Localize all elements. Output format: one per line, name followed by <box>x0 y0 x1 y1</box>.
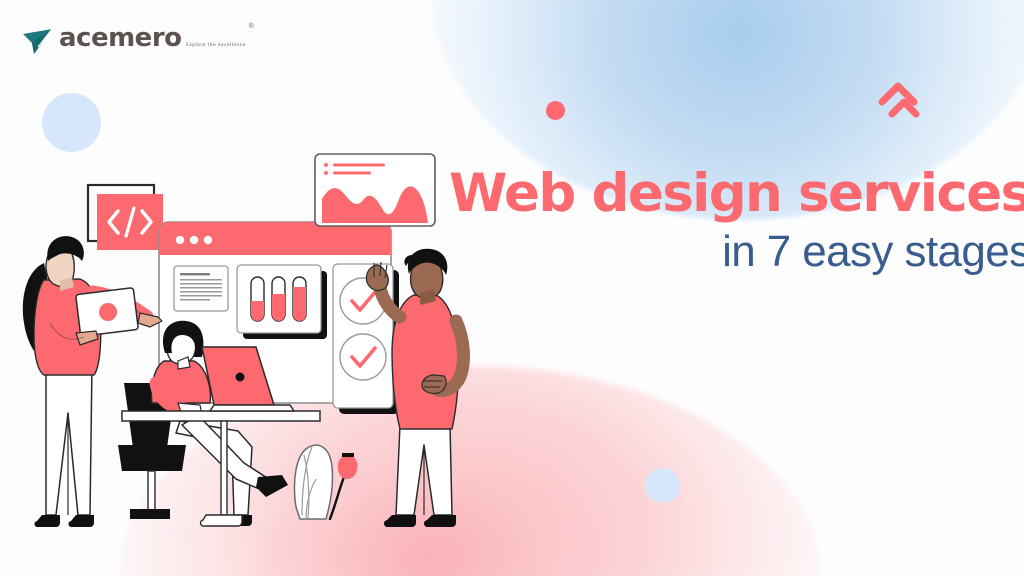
laptop-base <box>210 405 294 411</box>
gauge-card <box>237 265 327 339</box>
chair-base <box>130 509 170 519</box>
gauge-bar <box>293 277 306 321</box>
registered-mark: ® <box>249 23 254 30</box>
flower <box>338 455 358 479</box>
standing-woman-with-tablet <box>23 236 162 527</box>
page-subtitle: in 7 easy stages <box>449 223 1024 281</box>
shoe <box>256 475 288 497</box>
blue-circle-bottom-right-icon <box>645 468 680 503</box>
illustration-group <box>0 95 520 555</box>
gauge-bar <box>272 277 285 321</box>
vase <box>294 445 332 519</box>
potted-plant <box>294 445 357 519</box>
page-title: Web design services <box>449 163 1024 225</box>
code-badge-icon <box>88 185 163 250</box>
hero-headline-block: Web design services in 7 easy stages <box>449 163 1024 281</box>
checklist-card <box>333 264 399 414</box>
shoe <box>424 515 456 527</box>
browser-dot <box>190 236 198 244</box>
browser-dot <box>204 236 212 244</box>
desk-leg <box>221 421 227 515</box>
shoe <box>68 515 94 527</box>
hero-banner: acemero ® Explore the excellence Web des… <box>0 0 1024 576</box>
brand-name: acemero <box>59 23 182 53</box>
brand-tagline: Explore the excellence <box>186 43 247 48</box>
chair-seat <box>118 445 186 471</box>
browser-dot <box>176 236 184 244</box>
check-circle-icon <box>340 334 386 380</box>
shoe <box>384 515 416 527</box>
acemero-arrow-mark-icon <box>22 27 58 55</box>
double-chevron-up-icon <box>878 82 922 118</box>
shoe <box>34 515 60 527</box>
brand-logo[interactable]: acemero ® Explore the excellence <box>22 24 247 55</box>
desk-surface <box>122 411 320 421</box>
text-lines-card <box>174 266 228 311</box>
chart-card <box>315 154 435 226</box>
gauge-bar <box>251 277 264 321</box>
coral-dot-icon <box>546 101 565 120</box>
hip-hand <box>422 375 446 394</box>
